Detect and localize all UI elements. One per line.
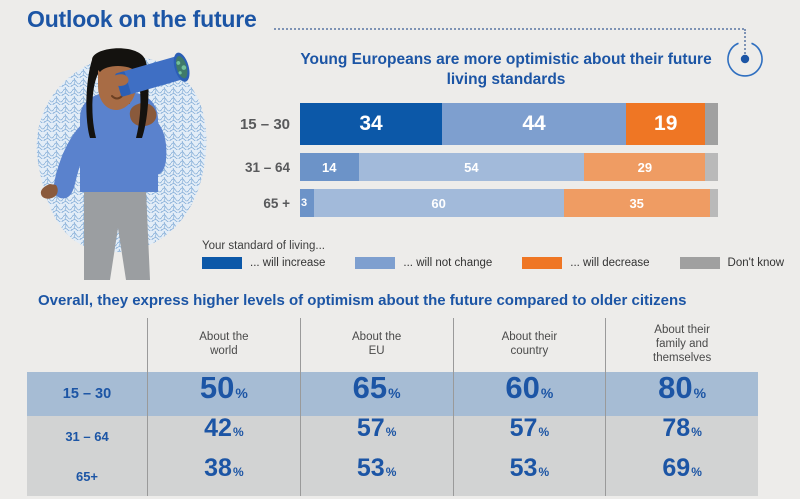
bar-track: 34 44 19 bbox=[300, 103, 718, 145]
cell-value: 53 bbox=[510, 456, 538, 481]
table-header-blank bbox=[27, 318, 147, 372]
bar-segment-decrease[interactable]: 35 bbox=[564, 189, 710, 217]
header-line: About their bbox=[654, 324, 710, 336]
bar-row-label: 31 – 64 bbox=[218, 160, 300, 175]
bar-segment-increase[interactable]: 3 bbox=[300, 189, 314, 217]
legend-swatch-no-change bbox=[355, 257, 395, 269]
bar-row: 31 – 64 14 54 29 bbox=[218, 153, 718, 181]
table-row: 15 – 30 50% 65% 60% 80% bbox=[27, 372, 758, 416]
cell-value: 50 bbox=[200, 372, 234, 403]
bar-segment-dont-know[interactable] bbox=[705, 153, 718, 181]
table-header-row: About the world About the EU About their… bbox=[27, 318, 758, 372]
bar-segment-dont-know[interactable] bbox=[710, 189, 718, 217]
table-cell-country: 53% bbox=[453, 456, 606, 496]
table-header-country: About their country bbox=[453, 318, 606, 372]
table-header-family: About their family and themselves bbox=[605, 318, 758, 372]
bar-chart-title: Young Europeans are more optimistic abou… bbox=[296, 50, 716, 90]
bar-row-label: 15 – 30 bbox=[218, 116, 300, 133]
header-line: themselves bbox=[653, 352, 711, 364]
cell-unit: % bbox=[691, 426, 702, 438]
cell-value: 65 bbox=[353, 372, 387, 403]
header-line: About their bbox=[502, 331, 558, 343]
cell-unit: % bbox=[541, 386, 553, 400]
table-header-world: About the world bbox=[147, 318, 300, 372]
table-cell-world: 38% bbox=[147, 456, 300, 496]
infographic-page: Outlook on the future bbox=[0, 0, 800, 499]
target-circle-icon bbox=[723, 37, 767, 81]
table-body: 15 – 30 50% 65% 60% 80% 31 – 64 42% bbox=[27, 372, 758, 496]
legend-swatch-decrease bbox=[522, 257, 562, 269]
table-title: Overall, they express higher levels of o… bbox=[38, 292, 768, 309]
chart-legend: Your standard of living... ... will incr… bbox=[202, 240, 782, 269]
cell-unit: % bbox=[233, 466, 244, 478]
table-cell-family: 80% bbox=[605, 372, 758, 416]
legend-item-dont-know[interactable]: Don't know bbox=[680, 257, 785, 269]
legend-item-decrease[interactable]: ... will decrease bbox=[522, 257, 649, 269]
cell-unit: % bbox=[694, 386, 706, 400]
cell-unit: % bbox=[386, 426, 397, 438]
legend-swatch-increase bbox=[202, 257, 242, 269]
legend-label: ... will not change bbox=[403, 257, 492, 269]
table-header-eu: About the EU bbox=[300, 318, 453, 372]
bar-segment-decrease[interactable]: 29 bbox=[584, 153, 705, 181]
optimism-table: About the world About the EU About their… bbox=[27, 318, 758, 496]
table-cell-country: 57% bbox=[453, 416, 606, 456]
illustration-woman-with-telescope bbox=[18, 42, 223, 282]
cell-value: 57 bbox=[357, 416, 385, 441]
bar-row: 65 + 3 60 35 bbox=[218, 189, 718, 217]
bar-track: 3 60 35 bbox=[300, 189, 718, 217]
cell-value: 53 bbox=[357, 456, 385, 481]
table-cell-eu: 57% bbox=[300, 416, 453, 456]
legend-label: ... will decrease bbox=[570, 257, 649, 269]
cell-unit: % bbox=[691, 466, 702, 478]
bar-row: 15 – 30 34 44 19 bbox=[218, 103, 718, 145]
cell-unit: % bbox=[235, 386, 247, 400]
legend-label: ... will increase bbox=[250, 257, 325, 269]
cell-unit: % bbox=[538, 426, 549, 438]
legend-item-no-change[interactable]: ... will not change bbox=[355, 257, 492, 269]
table-cell-eu: 53% bbox=[300, 456, 453, 496]
table-cell-family: 69% bbox=[605, 456, 758, 496]
table-cell-world: 50% bbox=[147, 372, 300, 416]
bar-segment-no-change[interactable]: 44 bbox=[442, 103, 626, 145]
bar-row-label: 65 + bbox=[218, 196, 300, 211]
cell-value: 60 bbox=[505, 372, 539, 403]
table-cell-country: 60% bbox=[453, 372, 606, 416]
dotted-connector-horizontal bbox=[274, 28, 744, 32]
table-cell-world: 42% bbox=[147, 416, 300, 456]
cell-unit: % bbox=[538, 466, 549, 478]
cell-value: 80 bbox=[658, 372, 692, 403]
cell-value: 78 bbox=[662, 416, 690, 441]
bar-segment-increase[interactable]: 34 bbox=[300, 103, 442, 145]
cell-value: 57 bbox=[510, 416, 538, 441]
table-row: 31 – 64 42% 57% 57% 78% bbox=[27, 416, 758, 456]
cell-unit: % bbox=[386, 466, 397, 478]
header-line: country bbox=[511, 345, 549, 357]
bar-segment-dont-know[interactable] bbox=[705, 103, 718, 145]
legend-title: Your standard of living... bbox=[202, 240, 782, 252]
cell-value: 42 bbox=[204, 416, 232, 441]
header-line: About the bbox=[199, 331, 248, 343]
cell-unit: % bbox=[388, 386, 400, 400]
header-line: EU bbox=[369, 345, 385, 357]
bar-segment-increase[interactable]: 14 bbox=[300, 153, 359, 181]
bar-segment-decrease[interactable]: 19 bbox=[626, 103, 705, 145]
bar-segment-no-change[interactable]: 54 bbox=[359, 153, 585, 181]
table-cell-family: 78% bbox=[605, 416, 758, 456]
header-line: About the bbox=[352, 331, 401, 343]
cell-value: 38 bbox=[204, 456, 232, 481]
cell-unit: % bbox=[233, 426, 244, 438]
legend-swatch-dont-know bbox=[680, 257, 720, 269]
header-line: family and bbox=[656, 338, 708, 350]
table-row-label: 65+ bbox=[27, 456, 147, 496]
header-line: world bbox=[210, 345, 237, 357]
page-title: Outlook on the future bbox=[27, 6, 257, 33]
bar-segment-no-change[interactable]: 60 bbox=[314, 189, 564, 217]
table-row: 65+ 38% 53% 53% 69% bbox=[27, 456, 758, 496]
legend-item-increase[interactable]: ... will increase bbox=[202, 257, 325, 269]
legend-label: Don't know bbox=[728, 257, 785, 269]
cell-value: 69 bbox=[662, 456, 690, 481]
table-cell-eu: 65% bbox=[300, 372, 453, 416]
table-row-label: 31 – 64 bbox=[27, 416, 147, 456]
bar-track: 14 54 29 bbox=[300, 153, 718, 181]
stacked-bar-chart: 15 – 30 34 44 19 31 – 64 14 54 29 65 + 3… bbox=[218, 103, 718, 225]
table-row-label: 15 – 30 bbox=[27, 372, 147, 416]
